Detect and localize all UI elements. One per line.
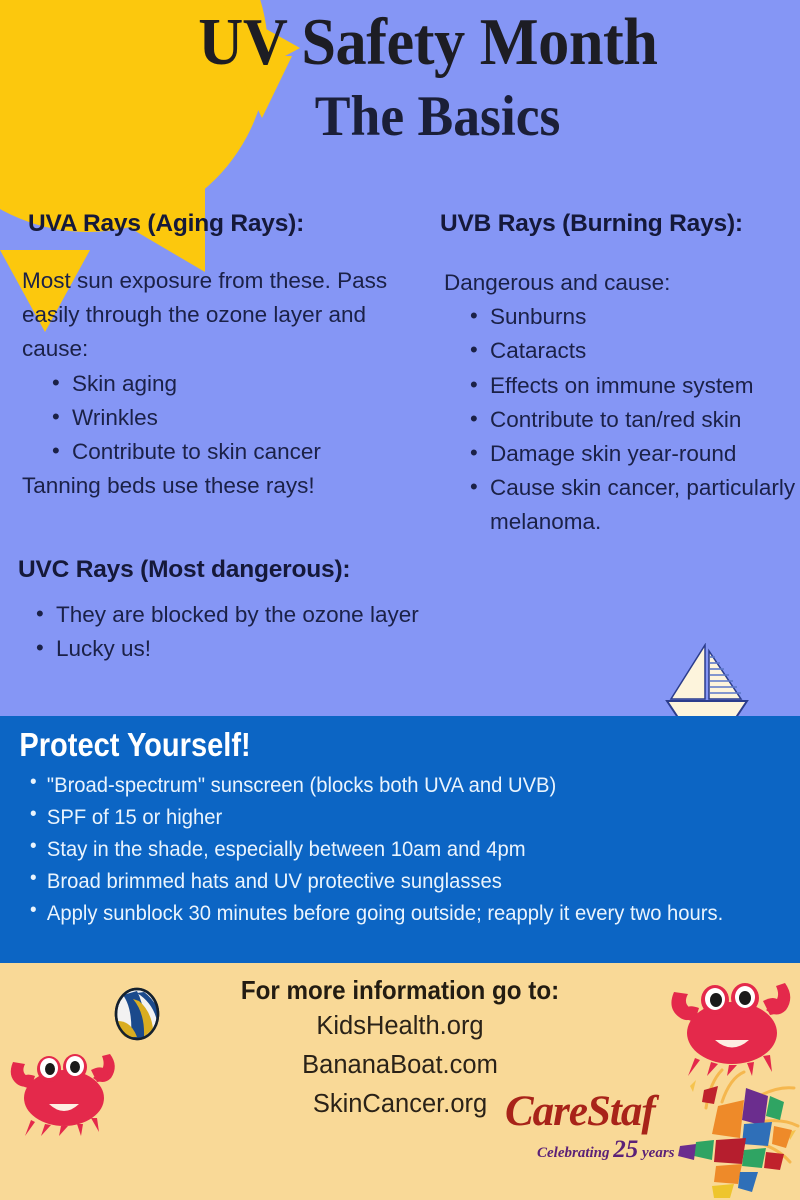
uvc-section: UVC Rays (Most dangerous): They are bloc… <box>18 556 448 666</box>
page-subtitle: The Basics <box>24 88 776 145</box>
page-title: UV Safety Month <box>28 8 772 78</box>
list-item: Lucky us! <box>40 632 448 666</box>
crab-graphic <box>665 958 800 1076</box>
list-item: Cataracts <box>474 334 800 368</box>
sailboat-icon <box>665 643 749 725</box>
crab-graphic <box>5 1032 123 1136</box>
starburst-icon <box>660 1068 800 1200</box>
uv-safety-infographic: UV Safety Month The Basics UVA Rays (Agi… <box>0 0 800 1200</box>
uva-bullet-list: Skin aging Wrinkles Contribute to skin c… <box>22 367 414 470</box>
list-item: "Broad-spectrum" sunscreen (blocks both … <box>30 770 754 801</box>
logo-tagline-pre: Celebrating <box>537 1145 613 1161</box>
uvb-bullet-list: Sunburns Cataracts Effects on immune sys… <box>440 300 800 539</box>
list-item: Sunburns <box>474 300 800 334</box>
protect-heading: Protect Yourself! <box>0 716 704 764</box>
protect-bullet-list: "Broad-spectrum" sunscreen (blocks both … <box>0 770 800 929</box>
uva-lead: Most sun exposure from these. Pass easil… <box>22 264 414 367</box>
volleyball-graphic <box>113 987 161 1041</box>
logo-wordmark: CareStaf <box>505 1090 685 1133</box>
logo-tagline-number: 25 <box>613 1136 638 1163</box>
starburst-graphic <box>660 1068 800 1200</box>
list-item: Cause skin cancer, particularly melanoma… <box>474 471 800 539</box>
uva-closing: Tanning beds use these rays! <box>22 469 414 503</box>
uvb-section: UVB Rays (Burning Rays): Dangerous and c… <box>440 210 800 540</box>
list-item: Apply sunblock 30 minutes before going o… <box>30 898 754 929</box>
title-block: UV Safety Month The Basics <box>0 8 800 145</box>
list-item: Contribute to tan/red skin <box>474 403 800 437</box>
list-item: Effects on immune system <box>474 369 800 403</box>
list-item: Broad brimmed hats and UV protective sun… <box>30 866 754 897</box>
list-item: Wrinkles <box>56 401 414 435</box>
uva-heading: UVA Rays (Aging Rays): <box>22 210 414 238</box>
list-item: Stay in the shade, especially between 10… <box>30 834 754 865</box>
list-item: They are blocked by the ozone layer <box>40 598 448 632</box>
list-item: SPF of 15 or higher <box>30 802 754 833</box>
carestaf-logo: CareStaf Celebrating 25 years <box>505 1090 685 1180</box>
list-item: Damage skin year-round <box>474 437 800 471</box>
uvc-bullet-list: They are blocked by the ozone layer Luck… <box>18 598 448 666</box>
crab-icon <box>665 958 800 1076</box>
volleyball-icon <box>113 987 161 1041</box>
list-item: Contribute to skin cancer <box>56 435 414 469</box>
list-item: Skin aging <box>56 367 414 401</box>
protect-yourself-section: Protect Yourself! "Broad-spectrum" sunsc… <box>0 716 800 963</box>
sailboat-graphic <box>665 643 749 725</box>
uvb-heading: UVB Rays (Burning Rays): <box>440 210 800 238</box>
uvc-heading: UVC Rays (Most dangerous): <box>18 556 448 584</box>
uvb-lead: Dangerous and cause: <box>444 266 800 300</box>
uva-section: UVA Rays (Aging Rays): Most sun exposure… <box>22 210 414 503</box>
crab-icon <box>5 1032 123 1136</box>
